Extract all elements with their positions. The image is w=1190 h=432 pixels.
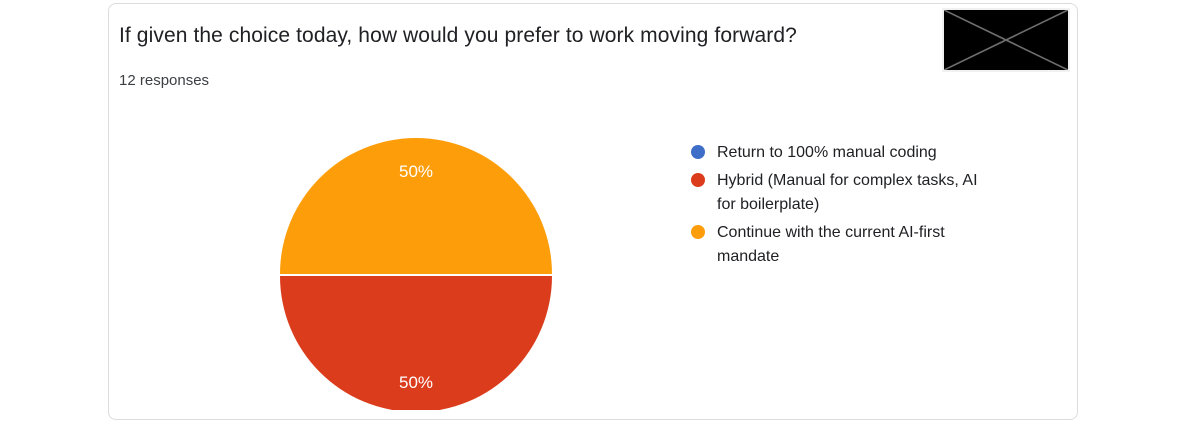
legend-color-dot-blue bbox=[691, 145, 705, 159]
legend-item-hybrid[interactable]: Hybrid (Manual for complex tasks, AI for… bbox=[691, 169, 1021, 217]
pie-slice-label-bottom: 50% bbox=[371, 373, 461, 393]
legend-item-manual-coding[interactable]: Return to 100% manual coding bbox=[691, 141, 1021, 165]
legend-color-dot-orange bbox=[691, 225, 705, 239]
legend-item-label: Continue with the current AI-first manda… bbox=[717, 221, 987, 269]
pie-slice-label-top: 50% bbox=[371, 162, 461, 182]
question-result-card: If given the choice today, how would you… bbox=[108, 3, 1078, 420]
pie-slice-continue-ai-first bbox=[280, 138, 552, 274]
legend-item-label: Return to 100% manual coding bbox=[717, 141, 937, 165]
pie-chart-graphic: 50% 50% bbox=[280, 138, 552, 410]
legend-item-ai-first[interactable]: Continue with the current AI-first manda… bbox=[691, 221, 1021, 269]
legend-color-dot-red bbox=[691, 173, 705, 187]
pie-chart: 50% 50% Return to 100% manual coding Hyb… bbox=[109, 4, 1079, 421]
legend-item-label: Hybrid (Manual for complex tasks, AI for… bbox=[717, 169, 987, 217]
chart-legend: Return to 100% manual coding Hybrid (Man… bbox=[691, 141, 1021, 273]
page-root: If given the choice today, how would you… bbox=[0, 0, 1190, 432]
